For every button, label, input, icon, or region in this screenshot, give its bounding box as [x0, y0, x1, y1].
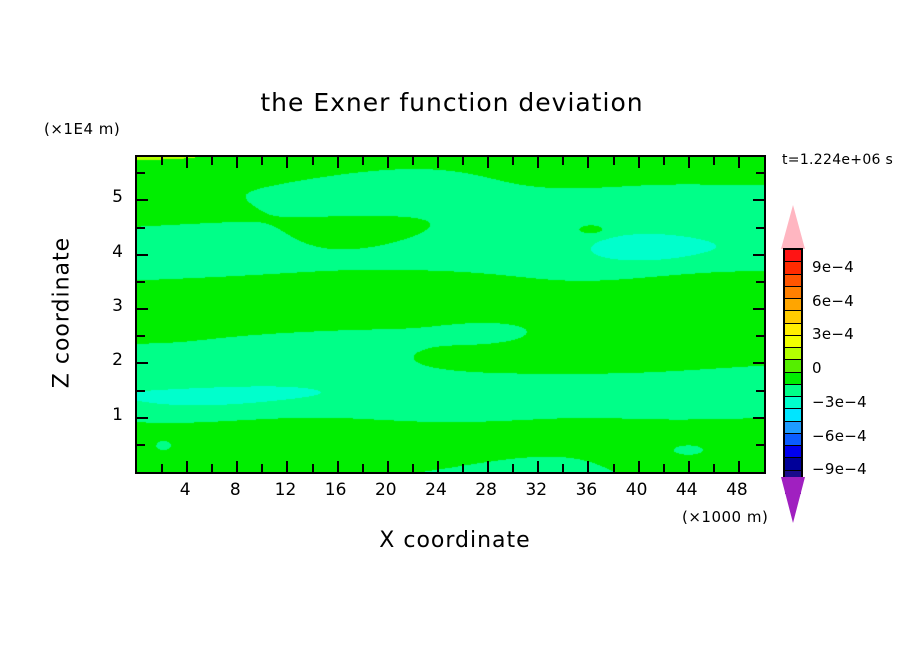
- y-tick: [137, 227, 145, 229]
- y-tick: [137, 308, 148, 310]
- x-axis-label: X coordinate: [240, 528, 670, 553]
- x-tick-top: [236, 157, 238, 168]
- colorbar-band: [785, 348, 801, 360]
- x-tick-top: [487, 157, 489, 168]
- x-tick-label: 20: [364, 480, 408, 500]
- x-tick-top: [663, 157, 665, 165]
- x-tick: [738, 461, 740, 472]
- x-tick-top: [261, 157, 263, 165]
- y-tick-right: [756, 390, 764, 392]
- y-tick: [137, 362, 148, 364]
- colorbar-band: [785, 262, 801, 274]
- x-tick-top: [713, 157, 715, 165]
- colorbar-band: [785, 397, 801, 409]
- colorbar-bands: [783, 248, 803, 477]
- x-tick-label: 32: [514, 480, 558, 500]
- y-tick-right: [756, 172, 764, 174]
- contour-field: [137, 157, 764, 472]
- x-tick-top: [211, 157, 213, 165]
- y-tick-label: 5: [93, 187, 123, 207]
- colorbar-band: [785, 311, 801, 323]
- y-tick-label: 2: [93, 350, 123, 370]
- y-tick: [137, 335, 145, 337]
- y-axis-unit-label: (×1E4 m): [44, 120, 120, 138]
- x-tick: [537, 461, 539, 472]
- y-axis-label: Z coordinate: [50, 223, 75, 403]
- y-tick-right: [753, 417, 764, 419]
- y-tick-label: 3: [93, 296, 123, 316]
- x-tick-top: [512, 157, 514, 165]
- x-tick-label: 40: [615, 480, 659, 500]
- colorbar-tick-label: −3e−4: [812, 393, 867, 411]
- x-tick-top: [562, 157, 564, 165]
- x-tick: [587, 461, 589, 472]
- x-tick-top: [638, 157, 640, 168]
- x-tick-label: 36: [564, 480, 608, 500]
- colorbar-band: [785, 458, 801, 470]
- x-tick-top: [362, 157, 364, 165]
- x-tick-top: [337, 157, 339, 168]
- x-tick: [663, 464, 665, 472]
- x-tick-top: [412, 157, 414, 165]
- colorbar-band: [785, 373, 801, 385]
- x-tick: [362, 464, 364, 472]
- x-tick: [261, 464, 263, 472]
- x-tick: [186, 461, 188, 472]
- x-tick: [713, 464, 715, 472]
- y-tick-right: [756, 227, 764, 229]
- colorbar-band: [785, 275, 801, 287]
- y-tick-right: [753, 199, 764, 201]
- colorbar-tick-label: −6e−4: [812, 427, 867, 445]
- x-tick-top: [587, 157, 589, 168]
- y-tick: [137, 417, 148, 419]
- colorbar-tick-label: 9e−4: [812, 258, 854, 276]
- colorbar-over-arrow-icon: [781, 205, 805, 249]
- colorbar-band: [785, 422, 801, 434]
- colorbar-band: [785, 336, 801, 348]
- x-tick: [236, 461, 238, 472]
- colorbar-band: [785, 434, 801, 446]
- x-tick: [562, 464, 564, 472]
- y-tick-right: [753, 362, 764, 364]
- colorbar-band: [785, 324, 801, 336]
- x-tick: [487, 461, 489, 472]
- x-tick-top: [286, 157, 288, 168]
- x-tick-top: [387, 157, 389, 168]
- x-tick-label: 44: [665, 480, 709, 500]
- y-tick: [137, 254, 148, 256]
- colorbar-under-arrow-icon: [781, 477, 805, 523]
- x-tick-label: 28: [464, 480, 508, 500]
- colorbar-tick-label: 3e−4: [812, 325, 854, 343]
- y-tick-right: [756, 335, 764, 337]
- x-tick-label: 8: [213, 480, 257, 500]
- time-annotation: t=1.224e+06 s: [782, 152, 893, 168]
- colorbar-band: [785, 299, 801, 311]
- y-tick-right: [753, 254, 764, 256]
- page-title: the Exner function deviation: [0, 88, 904, 117]
- x-tick: [437, 461, 439, 472]
- y-tick-right: [756, 281, 764, 283]
- x-tick-top: [537, 157, 539, 168]
- x-tick-label: 48: [715, 480, 759, 500]
- colorbar-band: [785, 360, 801, 372]
- y-tick: [137, 444, 145, 446]
- x-tick: [312, 464, 314, 472]
- x-tick-top: [462, 157, 464, 165]
- x-tick-label: 4: [163, 480, 207, 500]
- x-tick: [387, 461, 389, 472]
- x-tick-label: 16: [314, 480, 358, 500]
- x-tick-top: [161, 157, 163, 165]
- colorbar-tick-label: −9e−4: [812, 460, 867, 478]
- colorbar-tick-label: 6e−4: [812, 292, 854, 310]
- x-tick-top: [312, 157, 314, 165]
- y-tick-right: [753, 308, 764, 310]
- x-tick: [613, 464, 615, 472]
- x-tick-top: [738, 157, 740, 168]
- x-axis-unit-label: (×1000 m): [682, 508, 768, 526]
- x-tick: [688, 461, 690, 472]
- y-tick-right: [756, 444, 764, 446]
- x-tick: [638, 461, 640, 472]
- y-tick: [137, 172, 145, 174]
- x-tick-top: [613, 157, 615, 165]
- colorbar-band: [785, 250, 801, 262]
- contour-plot-area[interactable]: [135, 155, 766, 474]
- x-tick: [412, 464, 414, 472]
- x-tick-top: [437, 157, 439, 168]
- colorbar-band: [785, 446, 801, 458]
- colorbar[interactable]: [781, 205, 805, 520]
- colorbar-tick-label: 0: [812, 359, 822, 377]
- x-tick: [462, 464, 464, 472]
- x-tick-top: [688, 157, 690, 168]
- x-tick-top: [186, 157, 188, 168]
- x-tick-label: 12: [263, 480, 307, 500]
- y-tick: [137, 390, 145, 392]
- colorbar-band: [785, 409, 801, 421]
- y-tick-label: 1: [93, 405, 123, 425]
- x-tick-label: 24: [414, 480, 458, 500]
- x-tick: [337, 461, 339, 472]
- colorbar-band: [785, 385, 801, 397]
- x-tick: [512, 464, 514, 472]
- x-tick: [211, 464, 213, 472]
- x-tick: [286, 461, 288, 472]
- x-tick: [161, 464, 163, 472]
- colorbar-band: [785, 287, 801, 299]
- y-tick: [137, 199, 148, 201]
- y-tick-label: 4: [93, 242, 123, 262]
- y-tick: [137, 281, 145, 283]
